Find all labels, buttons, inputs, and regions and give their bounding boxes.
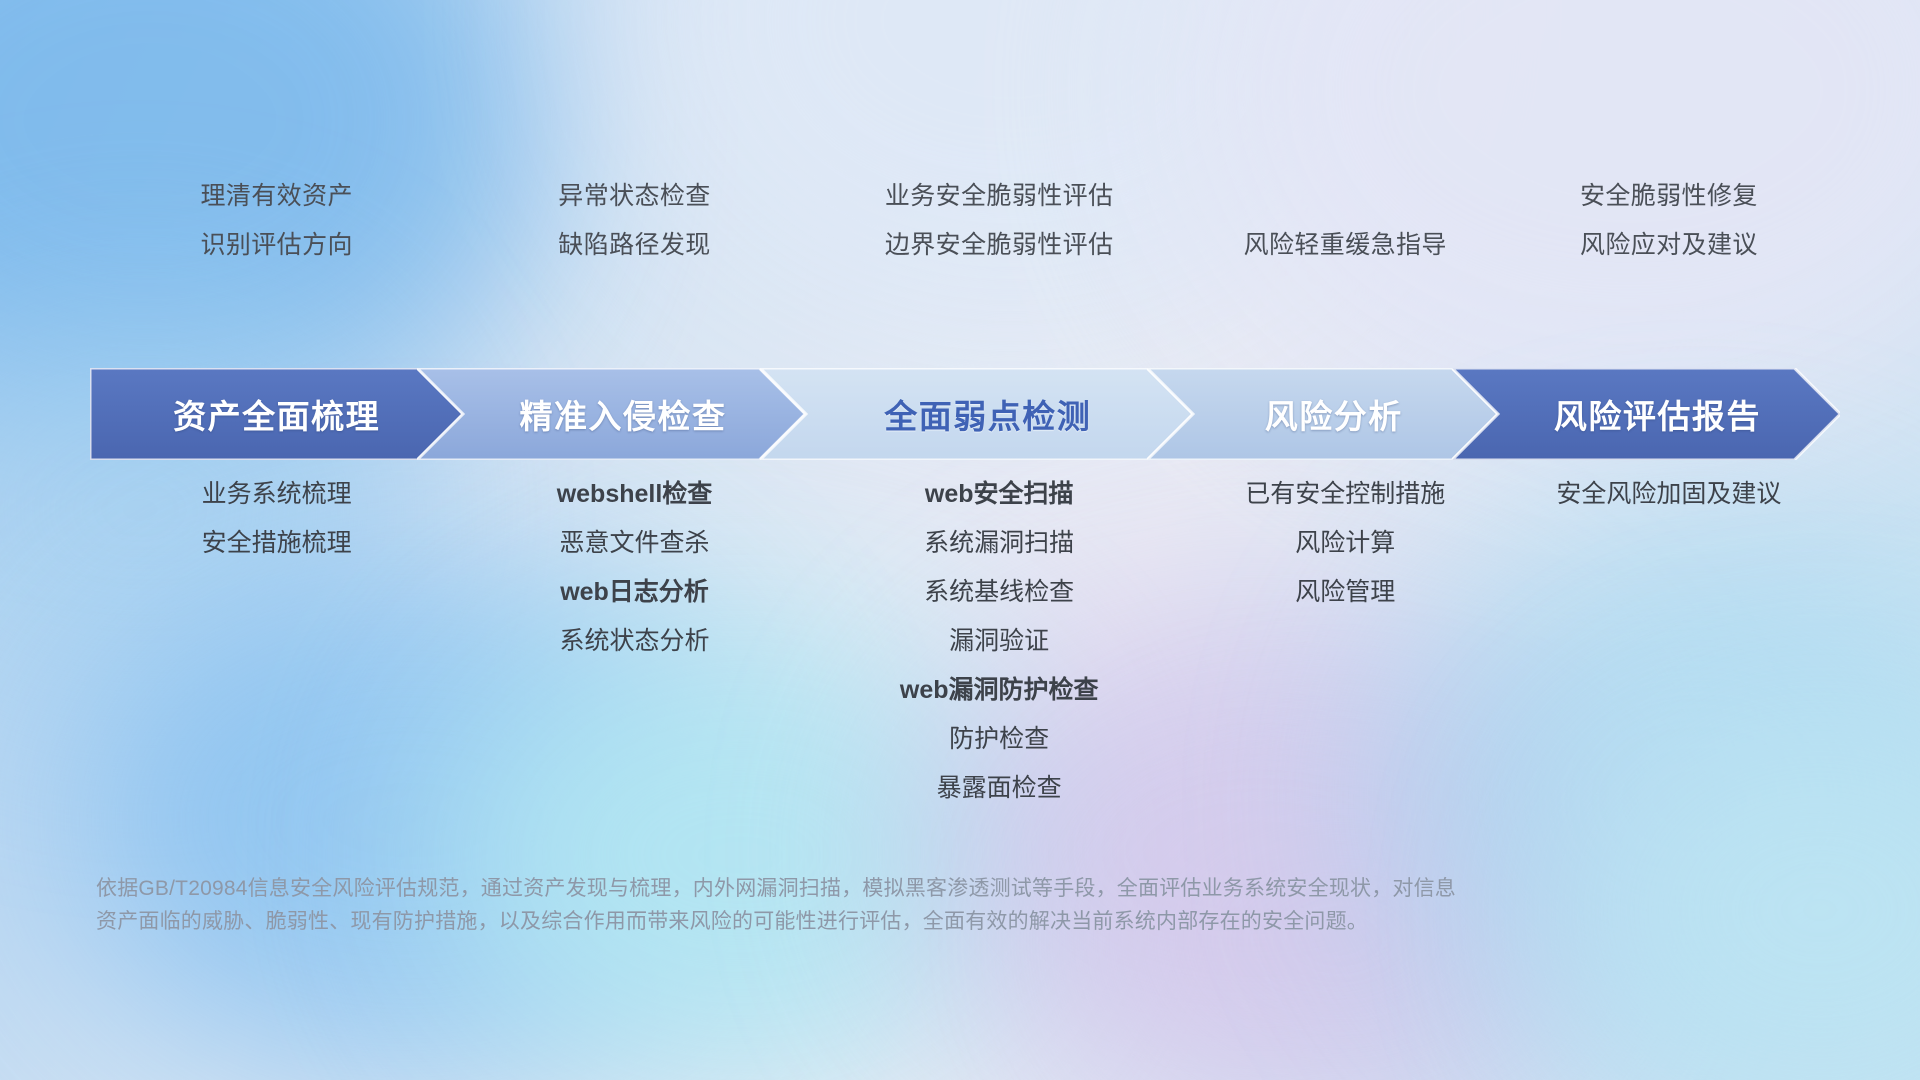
process-stage-3[interactable]: 全面弱点检测 (760, 368, 1193, 460)
process-stage-4[interactable]: 风险分析 (1147, 368, 1498, 460)
stage-output-item: web漏洞防护检查 (699, 666, 1299, 715)
footer-description: 依据GB/T20984信息安全风险评估规范，通过资产发现与梳理，内外网漏洞扫描，… (96, 872, 1636, 938)
stage-input-item: 业务安全脆弱性评估 (699, 172, 1299, 221)
stage-inputs-5: 安全脆弱性修复风险应对及建议 (1369, 172, 1920, 270)
stage-input-item: 安全脆弱性修复 (1369, 172, 1920, 221)
process-chevron-band: 资产全面梳理精准入侵检查全面弱点检测风险分析风险评估报告 (90, 368, 1840, 460)
stage-output-item: 防护检查 (699, 715, 1299, 764)
footer-line-1: 依据GB/T20984信息安全风险评估规范，通过资产发现与梳理，内外网漏洞扫描，… (96, 872, 1636, 905)
stage-inputs-row: 理清有效资产识别评估方向异常状态检查缺陷路径发现业务安全脆弱性评估边界安全脆弱性… (0, 0, 1920, 360)
stage-input-item: 风险应对及建议 (1369, 221, 1920, 270)
stage-output-item: 暴露面检查 (699, 764, 1299, 813)
stage-title: 精准入侵检查 (519, 390, 726, 438)
process-stage-2[interactable]: 精准入侵检查 (417, 368, 805, 460)
diagram-content: 理清有效资产识别评估方向异常状态检查缺陷路径发现业务安全脆弱性评估边界安全脆弱性… (0, 0, 1920, 1080)
stage-outputs-row: 业务系统梳理安全措施梳理webshell检查恶意文件查杀web日志分析系统状态分… (0, 470, 1920, 850)
stage-title: 资产全面梳理 (173, 390, 380, 438)
stage-title: 风险分析 (1265, 390, 1403, 438)
stage-output-item: 风险管理 (1045, 568, 1645, 617)
stage-output-item: 安全风险加固及建议 (1369, 470, 1920, 519)
stage-output-item: 风险计算 (1045, 519, 1645, 568)
process-stage-1[interactable]: 资产全面梳理 (90, 368, 463, 460)
stage-title: 全面弱点检测 (884, 390, 1091, 438)
stage-title: 风险评估报告 (1554, 390, 1761, 438)
stage-outputs-5: 安全风险加固及建议 (1369, 470, 1920, 519)
process-stage-5[interactable]: 风险评估报告 (1452, 368, 1840, 460)
footer-line-2: 资产面临的威胁、脆弱性、现有防护措施，以及综合作用而带来风险的可能性进行评估，全… (96, 905, 1636, 938)
stage-output-item: 漏洞验证 (699, 617, 1299, 666)
slide-canvas: 理清有效资产识别评估方向异常状态检查缺陷路径发现业务安全脆弱性评估边界安全脆弱性… (0, 0, 1920, 1080)
